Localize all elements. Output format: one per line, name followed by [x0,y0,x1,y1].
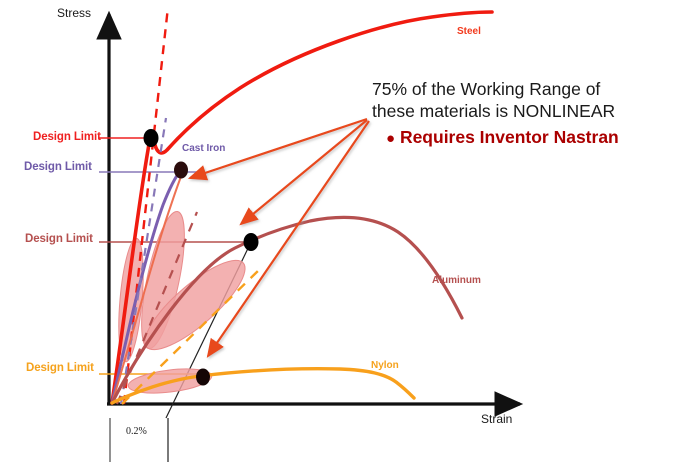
plot-canvas [0,0,682,472]
arrow-to-aluminum [241,120,367,224]
marker-nylon [196,369,210,386]
design-limit-label-castiron: Design Limit [24,161,92,173]
material-label-aluminum: Aluminum [432,275,481,286]
design-limit-label-nylon: Design Limit [26,362,94,374]
arrow-to-nylon [208,121,369,356]
material-label-steel: Steel [457,26,481,37]
marker-aluminum [244,233,259,251]
callout-bullet-row: ● Requires Inventor Nastran [386,126,672,149]
bullet-dot-icon: ● [386,130,395,147]
design-limit-label-aluminum: Design Limit [25,233,93,245]
y-axis-label: Stress [57,6,91,20]
callout-text-block: 75% of the Working Range of these materi… [372,78,672,149]
design-limit-label-steel: Design Limit [33,131,101,143]
offset-percent-label: 0.2% [126,426,147,437]
marker-steel [144,129,159,147]
material-label-nylon: Nylon [371,360,399,371]
callout-bullet-text: Requires Inventor Nastran [400,127,619,147]
material-label-castiron: Cast Iron [182,143,225,154]
marker-castiron [174,162,188,179]
x-axis-label: Strain [481,412,512,426]
offset-bracket [110,418,168,462]
callout-arrows [190,119,369,356]
stress-strain-diagram: Stress Strain 0.2% Design Limit Design L… [0,0,682,472]
callout-line-1: 75% of the Working Range of [372,78,672,100]
callout-line-2: these materials is NONLINEAR [372,100,672,122]
